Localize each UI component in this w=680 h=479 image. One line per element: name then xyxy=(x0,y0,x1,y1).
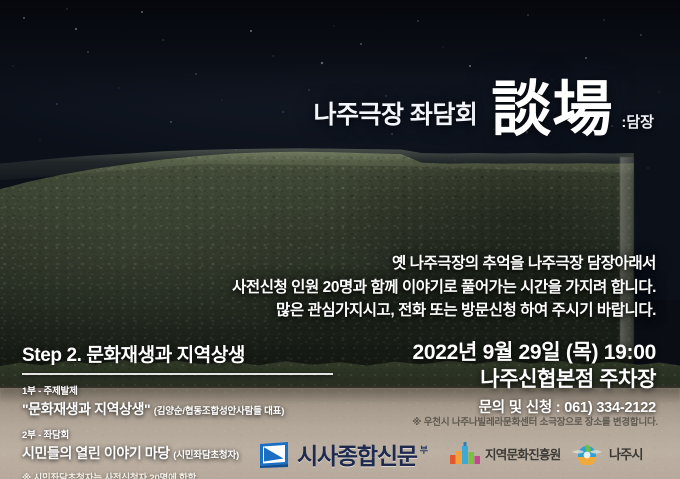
event-datetime: 2022년 9월 29일 (목) 19:00 xyxy=(356,340,656,366)
lead-line-1: 옛 나주극장의 추억을 나주극장 담장아래서 xyxy=(186,252,656,276)
logo-jiyeok-munhwa-jinheungwon: 지역문화진흥원 xyxy=(450,442,561,464)
building-blocks-icon xyxy=(450,442,480,464)
event-venue: 나주신협본점 주차장 xyxy=(356,366,656,393)
logo-jiyeok-label: 지역문화진흥원 xyxy=(485,444,561,463)
logo-naju-si: 나주시 xyxy=(570,441,643,465)
logo-sisa-label: 시사종합신문 xyxy=(297,437,417,471)
program-section-1: 1부 - 주제발제 "문화재생과 지역상생" (김양순/협동조합성안사람들 대표… xyxy=(22,383,342,419)
section-1-head: 1부 - 주제발제 xyxy=(22,383,342,397)
rain-venue-note: ※ 우천시 나주나빌레라문화센터 소극장으로 장소를 변경합니다. xyxy=(412,414,658,428)
logo-naju-label: 나주시 xyxy=(609,444,643,463)
title-reading: :담장 xyxy=(621,111,654,139)
event-details-block: 2022년 9월 29일 (목) 19:00 나주신협본점 주차장 문의 및 신… xyxy=(356,340,656,417)
newspaper-book-icon xyxy=(258,440,292,468)
title-prefix: 나주극장 좌담회 xyxy=(313,95,477,139)
logo-sisa-suffix: 부 xyxy=(420,443,428,456)
section-1-speaker: (김양순/협동조합성안사람들 대표) xyxy=(154,406,284,417)
lead-line-2: 사전신청 인원 20명과 함께 이야기로 풀어가는 시간을 가지려 합니다. xyxy=(186,276,656,300)
lead-line-3: 많은 관심가지시고, 전화 또는 방문신청 하여 주시기 바랍니다. xyxy=(186,299,656,323)
poster: 나주극장 좌담회 談場 :담장 옛 나주극장의 추억을 나주극장 담장아래서 사… xyxy=(0,0,680,479)
logo-sisa-jonghap-sinmun: 시사종합신문 부 xyxy=(258,437,428,471)
poster-title: 나주극장 좌담회 談場 :담장 xyxy=(313,82,654,139)
naju-city-emblem-icon xyxy=(570,441,604,465)
section-1-title: "문화재생과 지역상생" xyxy=(22,401,150,417)
section-1-body: "문화재생과 지역상생" (김양순/협동조합성안사람들 대표) xyxy=(22,399,342,419)
logo-strip: 시사종합신문 부 지역문화진흥원 xyxy=(0,433,680,473)
content-layer: 나주극장 좌담회 談場 :담장 옛 나주극장의 추억을 나주극장 담장아래서 사… xyxy=(0,0,680,479)
program-divider xyxy=(22,373,333,375)
lead-paragraph: 옛 나주극장의 추억을 나주극장 담장아래서 사전신청 인원 20명과 함께 이… xyxy=(186,252,656,323)
title-hanja: 談場 xyxy=(491,82,613,139)
program-step-title: Step 2. 문화재생과 지역상생 xyxy=(22,340,342,367)
